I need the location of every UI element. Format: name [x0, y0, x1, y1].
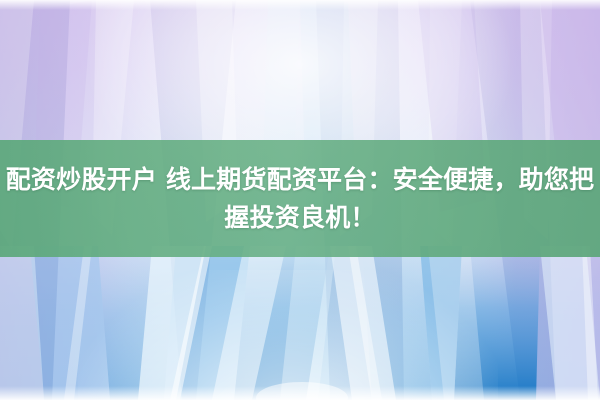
banner-headline: 配资炒股开户 线上期货配资平台：安全便捷，助您把握投资良机！ — [0, 161, 600, 237]
headline-band-inner: 配资炒股开户 线上期货配资平台：安全便捷，助您把握投资良机！ — [0, 140, 600, 257]
promo-banner: 配资炒股开户 线上期货配资平台：安全便捷，助您把握投资良机！ — [0, 0, 600, 400]
headline-band: 配资炒股开户 线上期货配资平台：安全便捷，助您把握投资良机！ — [0, 140, 600, 257]
